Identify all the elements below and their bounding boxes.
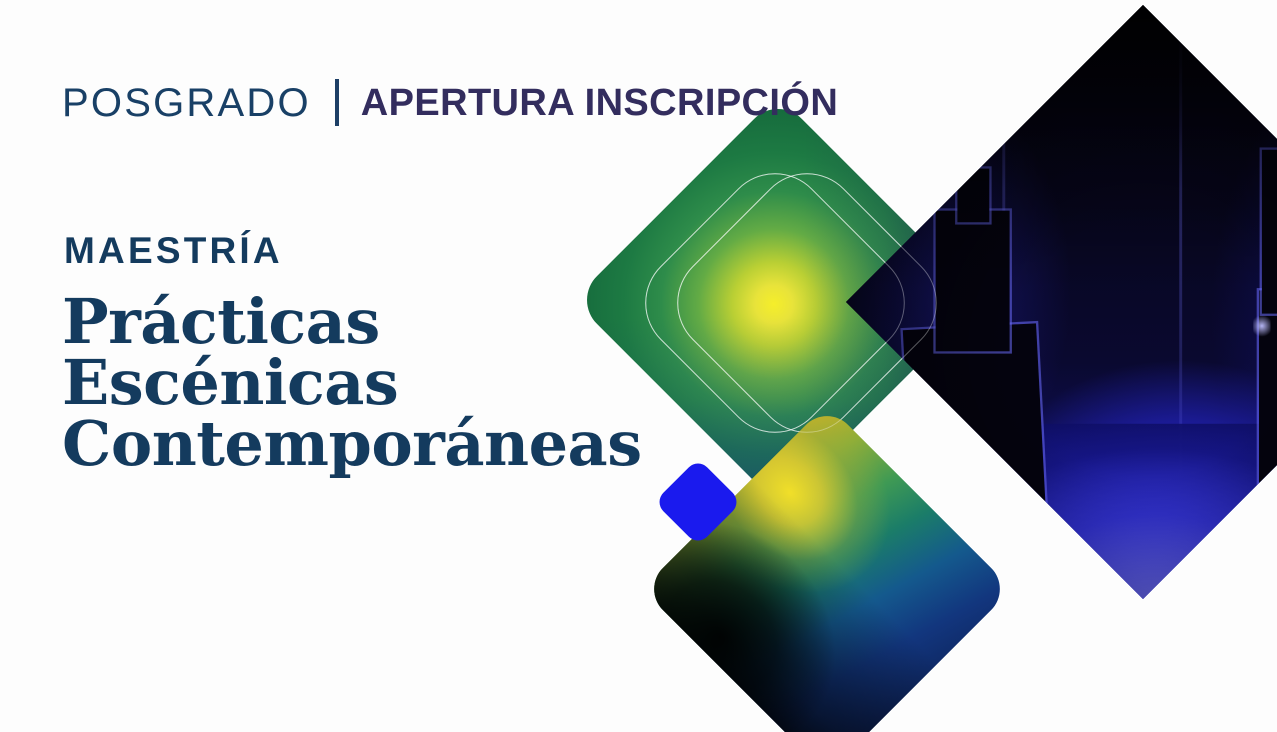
eyebrow-row: POSGRADO APERTURA INSCRIPCIÓN bbox=[62, 79, 838, 126]
announcement-label: APERTURA INSCRIPCIÓN bbox=[361, 84, 838, 122]
program-title: Prácticas Escénicas Contemporáneas bbox=[62, 292, 642, 474]
program-title-line-1: Prácticas bbox=[62, 292, 642, 353]
program-title-line-2: Escénicas bbox=[62, 353, 642, 414]
bottom-diamond-shadow bbox=[642, 404, 1013, 732]
degree-type-label: MAESTRÍA bbox=[64, 232, 283, 269]
program-title-line-3: Contemporáneas bbox=[62, 414, 642, 475]
poster-canvas: POSGRADO APERTURA INSCRIPCIÓN MAESTRÍA P… bbox=[0, 0, 1277, 732]
yellow-blue-gradient-diamond bbox=[642, 404, 1013, 732]
program-level-label: POSGRADO bbox=[62, 83, 311, 123]
eyebrow-divider bbox=[335, 79, 339, 126]
